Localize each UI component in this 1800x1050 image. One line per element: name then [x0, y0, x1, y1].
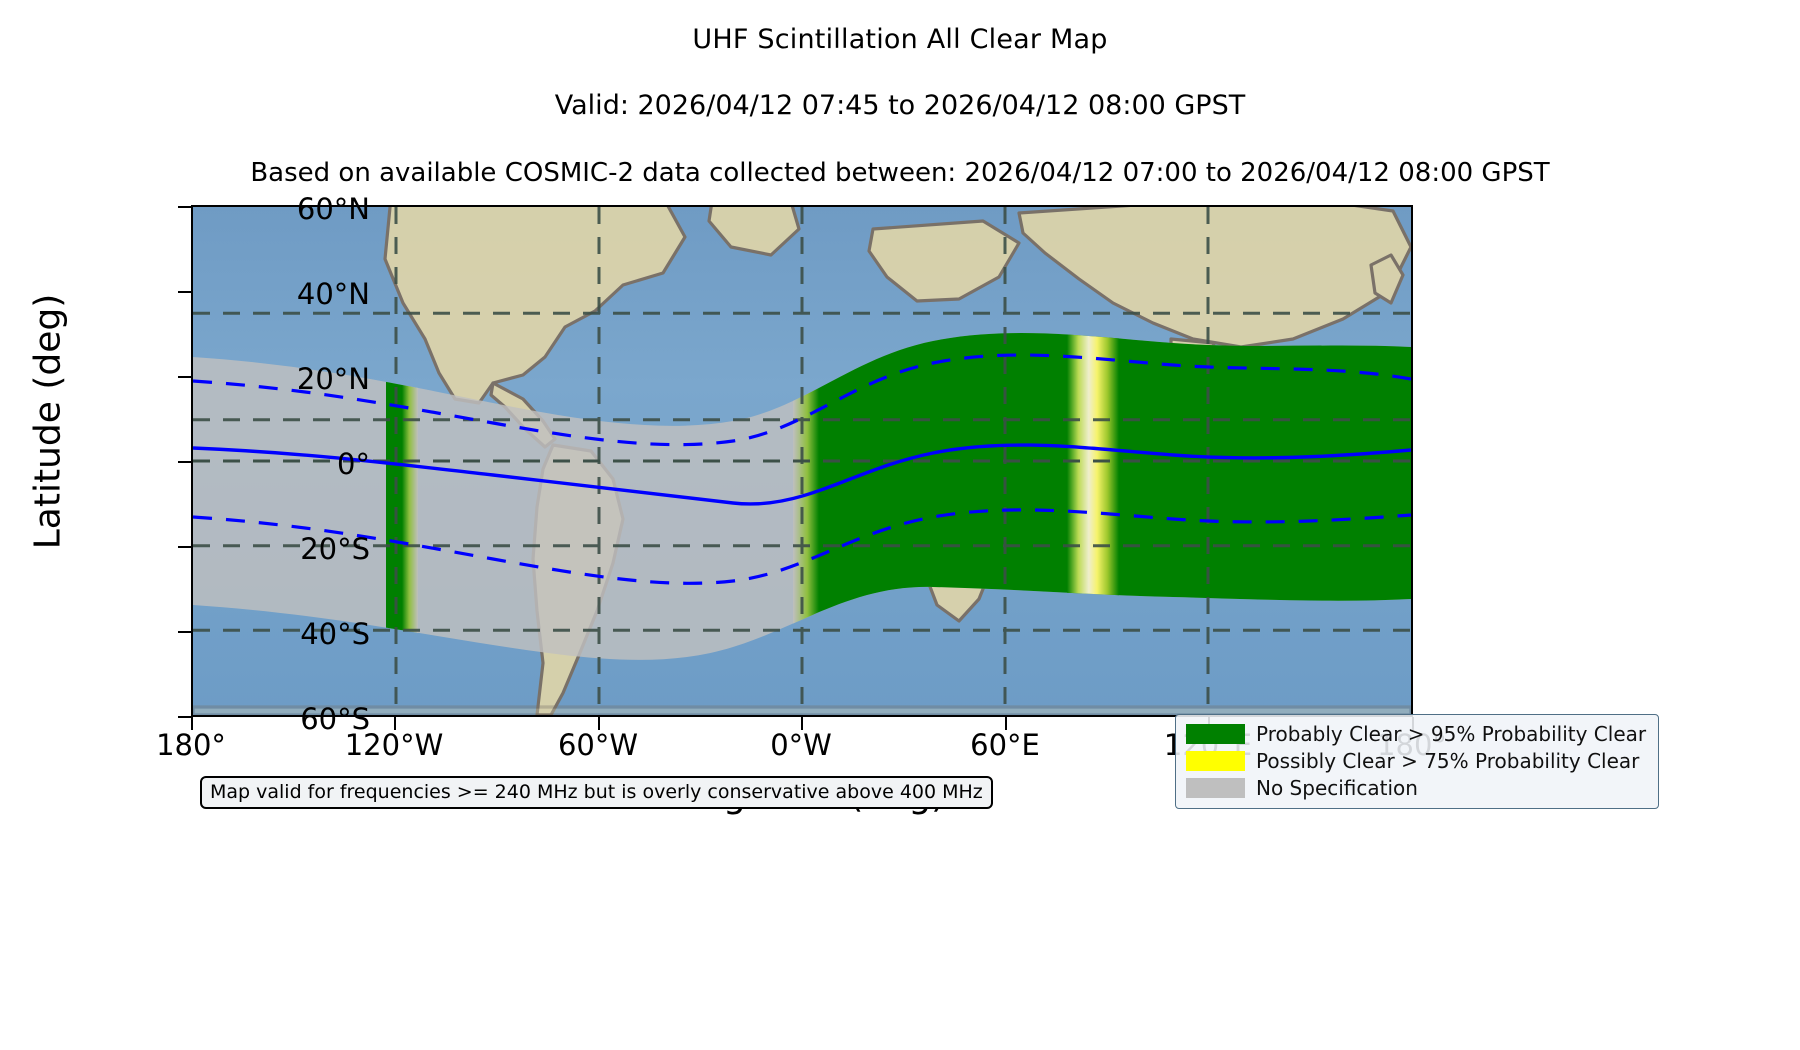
legend-item-probably-clear: Probably Clear > 95% Probability Clear — [1186, 722, 1646, 746]
ytickmark-20N — [178, 376, 191, 378]
ytick-label-40N: 40°N — [210, 277, 370, 311]
y-axis-label: Latitude (deg) — [28, 142, 69, 702]
page-title: UHF Scintillation All Clear Map — [0, 24, 1800, 55]
ytickmark-40N — [178, 291, 191, 293]
xtick-label-120W: 120°W — [304, 728, 484, 762]
xtick-label-180W: 180° — [101, 728, 281, 762]
scintillation-map-figure: UHF Scintillation All Clear Map Valid: 2… — [0, 0, 1800, 1050]
ytickmark-60N — [178, 206, 191, 208]
data-source-subtitle: Based on available COSMIC-2 data collect… — [0, 158, 1800, 188]
map-plot-area — [191, 205, 1413, 717]
xtick-label-60E: 60°E — [915, 728, 1095, 762]
world-map-canvas — [193, 207, 1411, 715]
valid-period-subtitle: Valid: 2026/04/12 07:45 to 2026/04/12 08… — [0, 90, 1800, 121]
ytickmark-0 — [178, 461, 191, 463]
legend-item-no-specification: No Specification — [1186, 776, 1646, 800]
ytickmark-40S — [178, 631, 191, 633]
legend-swatch-possibly-clear — [1186, 751, 1245, 771]
map-legend: Probably Clear > 95% Probability Clear P… — [1175, 714, 1659, 809]
legend-swatch-no-specification — [1186, 778, 1245, 798]
ytick-label-20S: 20°S — [210, 532, 370, 566]
ytick-label-40S: 40°S — [210, 617, 370, 651]
xtick-label-60W: 60°W — [508, 728, 688, 762]
ytickmark-20S — [178, 546, 191, 548]
xtick-label-0: 0°W — [711, 728, 891, 762]
legend-swatch-probably-clear — [1186, 724, 1245, 744]
frequency-validity-note: Map valid for frequencies >= 240 MHz but… — [200, 776, 993, 809]
legend-label-possibly-clear: Possibly Clear > 75% Probability Clear — [1256, 749, 1639, 773]
ytick-label-20N: 20°N — [210, 362, 370, 396]
legend-item-possibly-clear: Possibly Clear > 75% Probability Clear — [1186, 749, 1646, 773]
ytickmark-60S — [178, 716, 191, 718]
legend-label-probably-clear: Probably Clear > 95% Probability Clear — [1256, 722, 1646, 746]
legend-label-no-specification: No Specification — [1256, 776, 1418, 800]
ytick-label-60N: 60°N — [210, 192, 370, 226]
ytick-label-0: 0° — [210, 447, 370, 481]
